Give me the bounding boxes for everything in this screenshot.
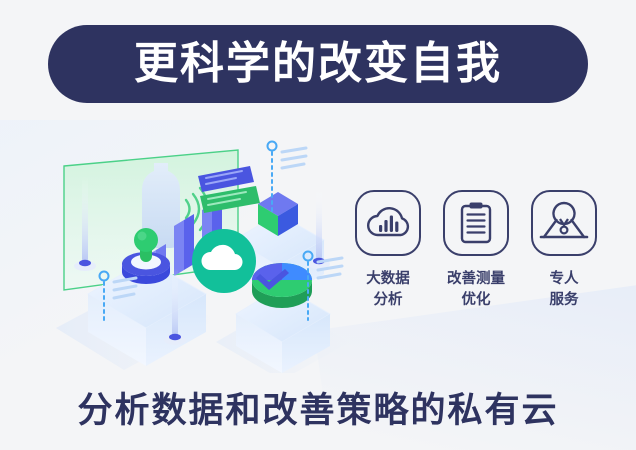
feature-label-big-data-analysis: 大数据 分析 bbox=[366, 269, 410, 311]
service-agent-icon bbox=[539, 201, 589, 245]
clipboard-icon-box bbox=[443, 190, 509, 256]
poster-canvas: 更科学的改变自我 bbox=[0, 0, 636, 450]
cloud-bar-chart-icon-box bbox=[355, 190, 421, 256]
clipboard-icon bbox=[456, 201, 496, 245]
pie-chart-3d bbox=[252, 263, 312, 308]
service-agent-icon-box bbox=[531, 190, 597, 256]
title-pill: 更科学的改变自我 bbox=[48, 25, 588, 103]
page-title: 更科学的改变自我 bbox=[134, 42, 502, 86]
illustration-isometric-cloud-scene bbox=[20, 128, 360, 373]
cloud-bar-chart-icon bbox=[365, 203, 411, 243]
feature-list: 大数据 分析 改善测量 优化 bbox=[352, 190, 600, 311]
feature-item-dedicated-service[interactable]: 专人 服务 bbox=[528, 190, 600, 311]
cloud-badge bbox=[192, 229, 256, 293]
feature-label-dedicated-service: 专人 服务 bbox=[550, 269, 579, 311]
feature-item-big-data-analysis[interactable]: 大数据 分析 bbox=[352, 190, 424, 311]
feature-label-measure-optimize: 改善测量 优化 bbox=[447, 269, 505, 311]
feature-item-measure-optimize[interactable]: 改善测量 优化 bbox=[440, 190, 512, 311]
page-tagline: 分析数据和改善策略的私有云 bbox=[0, 382, 636, 433]
